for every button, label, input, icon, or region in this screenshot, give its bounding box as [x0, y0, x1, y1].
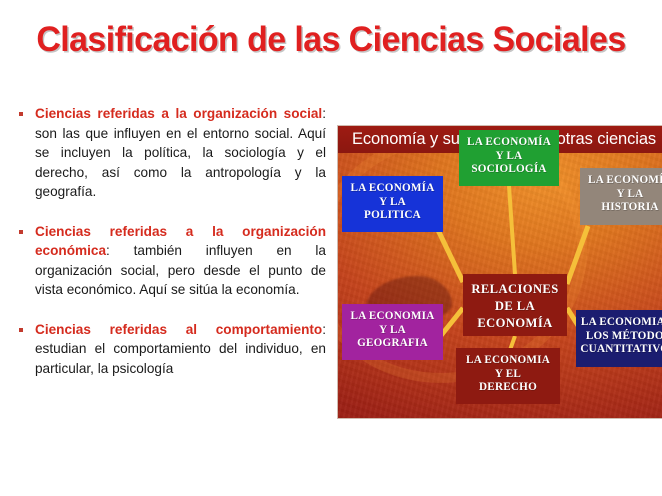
node-line: LA ECONOMIA — [346, 310, 439, 324]
bullet-marker-icon — [19, 112, 23, 116]
node-line: LOS MÉTODOS — [580, 330, 662, 344]
node-line: LA ECONOMÍA — [346, 182, 439, 196]
node-line: Y EL — [460, 368, 556, 382]
bullet-text: Ciencias referidas al comportamiento: es… — [35, 320, 326, 379]
diagram-node-center: RELACIONES DE LA ECONOMÍA — [463, 274, 567, 336]
bullet-text: Ciencias referidas a la organización eco… — [35, 222, 326, 300]
node-line: Y LA — [346, 196, 439, 210]
node-line: DERECHO — [460, 381, 556, 395]
node-line: Y LA — [346, 324, 439, 338]
page-title: Clasificación de las Ciencias Sociales — [10, 20, 652, 60]
list-item: Ciencias referidas al comportamiento: es… — [8, 320, 326, 379]
node-line: POLITICA — [346, 209, 439, 223]
node-line: CUANTITATIVOS — [580, 343, 662, 357]
node-line: Y LA — [463, 150, 555, 164]
diagram-node-metodos-cuantitativos: LA ECONOMIA Y LOS MÉTODOS CUANTITATIVOS — [576, 310, 662, 367]
diagram-node-historia: LA ECONOMÍA Y LA HISTORIA — [580, 168, 662, 225]
diagram-node-politica: LA ECONOMÍA Y LA POLITICA — [342, 176, 443, 232]
node-line: DE LA — [467, 298, 563, 315]
bullet-list: Ciencias referidas a la organización soc… — [8, 104, 326, 378]
diagram-node-derecho: LA ECONOMIA Y EL DERECHO — [456, 348, 560, 404]
node-line: ECONOMÍA — [467, 315, 563, 332]
bullet-marker-icon — [19, 230, 23, 234]
node-line: LA ECONOMÍA — [463, 136, 555, 150]
node-line: Y LA — [584, 188, 662, 202]
node-line: GEOGRAFIA — [346, 337, 439, 351]
economics-relations-diagram: Economía y su relación con otras ciencia… — [338, 126, 662, 418]
list-item: Ciencias referidas a la organización eco… — [8, 222, 326, 300]
node-line: RELACIONES — [467, 281, 563, 298]
bullet-marker-icon — [19, 328, 23, 332]
diagram-node-sociologia: LA ECONOMÍA Y LA SOCIOLOGÍA — [459, 130, 559, 186]
list-item: Ciencias referidas a la organización soc… — [8, 104, 326, 202]
node-line: LA ECONOMÍA — [584, 174, 662, 188]
bullet-text: Ciencias referidas a la organización soc… — [35, 104, 326, 202]
diagram-node-geografia: LA ECONOMIA Y LA GEOGRAFIA — [342, 304, 443, 360]
node-line: LA ECONOMIA — [460, 354, 556, 368]
node-line: HISTORIA — [584, 201, 662, 215]
bullet-lead: Ciencias referidas al comportamiento — [35, 322, 322, 337]
node-line: SOCIOLOGÍA — [463, 163, 555, 177]
bullet-lead: Ciencias referidas a la organización soc… — [35, 106, 322, 121]
node-line: LA ECONOMIA Y — [580, 316, 662, 330]
